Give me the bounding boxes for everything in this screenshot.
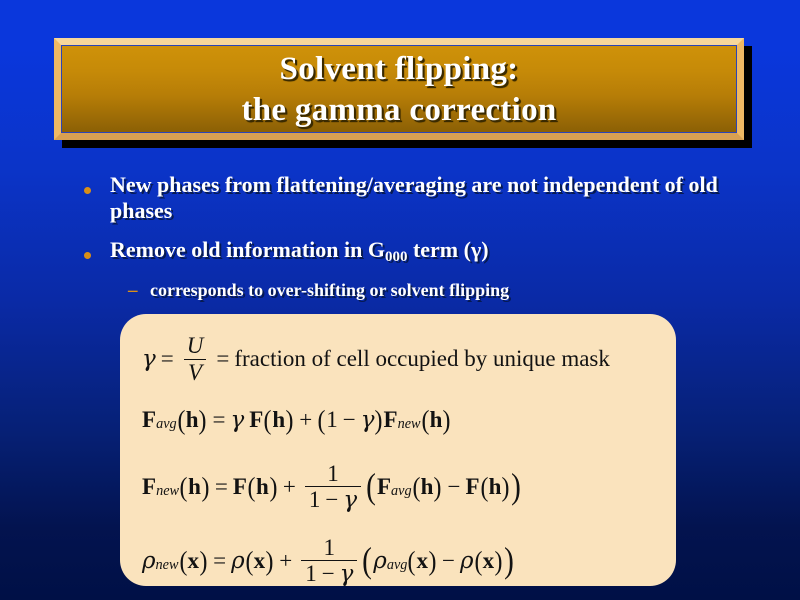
bullet-item-2: Remove old information in G000 term (γ) — [84, 237, 724, 266]
eq4-lhs-paren-close: ) — [200, 546, 208, 577]
eq4-minus: − — [437, 548, 460, 574]
eq4-term2-paren-open: ( — [408, 546, 416, 577]
bullet-marker-2 — [84, 237, 110, 264]
eq3-plus: + — [278, 474, 301, 500]
eq4-term3-paren-close: ) — [495, 546, 503, 577]
page-title: Solvent flipping: the gamma correction — [61, 45, 737, 131]
subbullet-text-1: corresponds to over-shifting or solvent … — [150, 279, 724, 302]
eq1-fraction: U V — [183, 334, 208, 384]
eq3-term3-symbol: F — [465, 474, 479, 500]
eq3-group-paren-open: ( — [366, 476, 376, 497]
eq3-term2-paren-close: ) — [434, 472, 442, 503]
eq4-lhs-subscript: new — [156, 557, 179, 574]
bullet-list: New phases from flattening/averaging are… — [84, 172, 724, 302]
eq2-term2-symbol: F — [384, 407, 398, 433]
eq1-numerator: U — [183, 334, 208, 358]
eq2-term2-paren-close: ) — [443, 405, 451, 436]
eq3-minus: − — [442, 474, 465, 500]
title-line-2: the gamma correction — [61, 90, 737, 131]
en-dash-icon: – — [128, 279, 150, 302]
eq2-lhs-paren-close: ) — [199, 405, 207, 436]
eq2-lhs-paren-open: ( — [177, 405, 185, 436]
eq2-one: 1 — [326, 407, 338, 433]
bullet-text-2: Remove old information in G000 term (γ) — [110, 237, 724, 266]
eq2-minus: − — [338, 407, 361, 433]
eq4-lhs-symbol: ρ — [142, 548, 156, 574]
eq4-term1-arg: x — [254, 548, 266, 574]
eq4-term3-symbol: ρ — [460, 548, 474, 574]
eq4-numerator: 1 — [320, 536, 340, 560]
eq4-term2-arg: x — [416, 548, 428, 574]
equation-rho-new: ρnew (x) = ρ(x) + 1 1−γ (ρavg(x)−ρ(x)) — [142, 524, 654, 598]
eq4-term1-paren-open: ( — [245, 546, 253, 577]
eq4-term3-paren-open: ( — [474, 546, 482, 577]
eq3-term2-paren-open: ( — [412, 472, 420, 503]
eq3-lhs-paren-close: ) — [201, 472, 209, 503]
eq3-lhs-paren-open: ( — [180, 472, 188, 503]
eq3-numerator: 1 — [323, 462, 343, 486]
eq4-term2-symbol: ρ — [373, 548, 387, 574]
eq4-fraction: 1 1−γ — [301, 536, 357, 587]
eq3-denominator: 1−γ — [305, 486, 361, 512]
eq3-term1-paren-open: ( — [248, 472, 256, 503]
eq3-term3-paren-close: ) — [502, 472, 510, 503]
eq2-term1-symbol: F — [249, 407, 263, 433]
title-line-1: Solvent flipping: — [61, 49, 737, 90]
eq2-equals: = — [208, 407, 231, 433]
bullet-marker-1 — [84, 172, 110, 199]
eq4-den-minus: − — [317, 561, 340, 586]
eq2-gamma-2: γ — [361, 407, 375, 433]
eq3-term3-paren-open: ( — [480, 472, 488, 503]
eq3-den-minus: − — [320, 487, 343, 512]
eq4-equals: = — [208, 548, 231, 574]
eq3-lhs-arg: h — [188, 474, 201, 500]
eq4-plus: + — [274, 548, 297, 574]
eq4-term3-arg: x — [483, 548, 495, 574]
eq2-term1-paren-open: ( — [264, 405, 272, 436]
title-box: Solvent flipping: the gamma correction — [54, 38, 744, 140]
eq4-group-paren-close: ) — [504, 550, 514, 571]
bullet-item-1: New phases from flattening/averaging are… — [84, 172, 724, 224]
eq3-group-paren-close: ) — [511, 476, 521, 497]
eq1-denominator: V — [184, 359, 206, 384]
bullet-text-1: New phases from flattening/averaging are… — [110, 172, 724, 224]
eq2-term1-paren-close: ) — [286, 405, 294, 436]
eq3-term1-paren-close: ) — [269, 472, 277, 503]
eq2-gamma: γ — [231, 407, 245, 433]
eq4-lhs-paren-open: ( — [179, 546, 187, 577]
eq3-term1-arg: h — [256, 474, 269, 500]
equation-gamma-definition: γ = U V = fraction of cell occupied by u… — [142, 328, 654, 390]
eq3-equals: = — [210, 474, 233, 500]
equation-f-avg: Favg (h) = γ F(h) + (1−γ) Fnew(h) — [142, 390, 654, 450]
eq4-term2-paren-close: ) — [428, 546, 436, 577]
eq3-term1-symbol: F — [233, 474, 247, 500]
eq3-lhs-subscript: new — [156, 483, 179, 500]
equation-panel: γ = U V = fraction of cell occupied by u… — [120, 314, 676, 586]
bullet-text-2-subscript: 000 — [385, 249, 407, 265]
eq2-lhs-arg: h — [186, 407, 199, 433]
eq2-term2-subscript: new — [398, 416, 421, 433]
bullet-dot-icon — [84, 252, 91, 259]
eq3-term2-subscript: avg — [391, 483, 412, 500]
subbullet-item-1: – corresponds to over-shifting or solven… — [128, 279, 724, 302]
eq3-den-gamma: γ — [343, 487, 357, 513]
eq4-term2-subscript: avg — [387, 557, 408, 574]
eq3-den-one: 1 — [309, 487, 321, 512]
eq4-group-paren-open: ( — [362, 550, 372, 571]
eq3-term2-symbol: F — [377, 474, 391, 500]
bullet-text-2-prefix: Remove old information in G — [110, 237, 385, 262]
eq3-lhs-symbol: F — [142, 474, 156, 500]
eq4-term1-symbol: ρ — [231, 548, 245, 574]
slide-canvas: Solvent flipping: the gamma correction N… — [0, 0, 800, 600]
eq4-lhs-arg: x — [188, 548, 200, 574]
eq2-lhs-symbol: F — [142, 407, 156, 433]
eq1-gamma: γ — [142, 346, 156, 372]
eq2-term2-arg: h — [430, 407, 443, 433]
equation-f-new: Fnew (h) = F(h) + 1 1−γ (Favg(h)−F(h)) — [142, 450, 654, 524]
bullet-dot-icon — [84, 187, 91, 194]
eq3-fraction: 1 1−γ — [305, 462, 361, 513]
eq2-term2-paren-open: ( — [421, 405, 429, 436]
eq2-lhs-subscript: avg — [156, 416, 177, 433]
eq4-den-gamma: γ — [340, 561, 354, 587]
eq2-group-paren-close: ) — [375, 405, 383, 436]
eq1-prose: fraction of cell occupied by unique mask — [234, 346, 610, 372]
eq3-term2-arg: h — [421, 474, 434, 500]
eq1-equals-2: = — [211, 346, 234, 372]
eq1-equals-1: = — [156, 346, 179, 372]
eq4-den-one: 1 — [305, 561, 317, 586]
eq2-plus: + — [294, 407, 317, 433]
eq2-group-paren-open: ( — [318, 405, 326, 436]
bullet-text-2-suffix: term (γ) — [407, 237, 488, 262]
eq4-denominator: 1−γ — [301, 560, 357, 586]
eq4-term1-paren-close: ) — [266, 546, 274, 577]
eq3-term3-arg: h — [489, 474, 502, 500]
eq2-term1-arg: h — [272, 407, 285, 433]
